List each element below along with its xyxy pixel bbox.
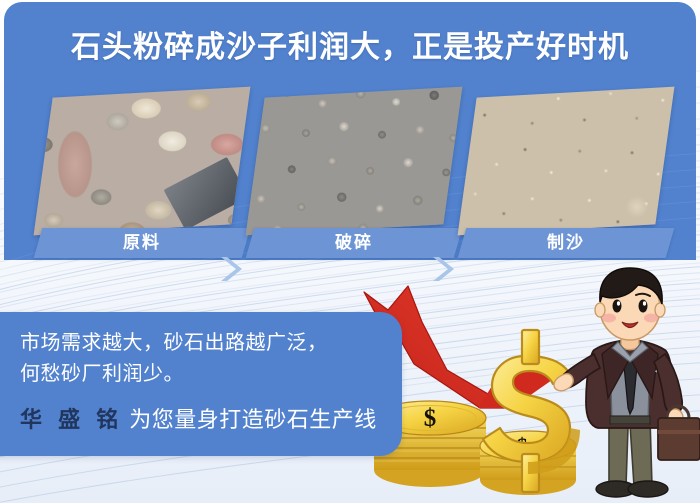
svg-text:$: $ — [424, 405, 437, 432]
copy-line-1: 市场需求越大，砂石出路越广泛， — [20, 328, 328, 359]
process-step-label-text-2: 破碎 — [250, 228, 458, 258]
manufactured-sand-photo — [458, 87, 675, 236]
promo-banner: 石头粉碎成沙子利润大，正是投产好时机 原料 破碎 — [0, 0, 700, 503]
process-step-raw-material[interactable]: 原料 — [38, 88, 253, 263]
process-step-label-text-1: 原料 — [38, 228, 246, 258]
brand-name: 华 盛 铭 — [20, 407, 123, 432]
copy-line-2: 何愁砂厂利润少。 — [20, 359, 184, 390]
process-step-crushing[interactable]: 破碎 — [250, 88, 465, 263]
process-step-sand-making[interactable]: 制沙 — [462, 88, 677, 263]
brand-tagline-line: 华 盛 铭为您量身打造砂石生产线 — [20, 403, 377, 437]
crushed-gravel-photo — [246, 87, 463, 236]
raw-material-photo — [34, 87, 251, 236]
page-title: 石头粉碎成沙子利润大，正是投产好时机 — [4, 28, 696, 68]
tagline-text: 为您量身打造砂石生产线 — [129, 407, 377, 432]
process-step-label-3: 制沙 — [458, 228, 675, 258]
marketing-copy-panel: 市场需求越大，砂石出路越广泛， 何愁砂厂利润少。 华 盛 铭为您量身打造砂石生产… — [0, 312, 402, 456]
process-flow: 原料 破碎 制沙 — [0, 88, 700, 263]
chevron-right-icon — [218, 254, 244, 284]
process-step-label-text-3: 制沙 — [462, 228, 670, 258]
business-growth-illustration: $ $ — [362, 258, 700, 503]
